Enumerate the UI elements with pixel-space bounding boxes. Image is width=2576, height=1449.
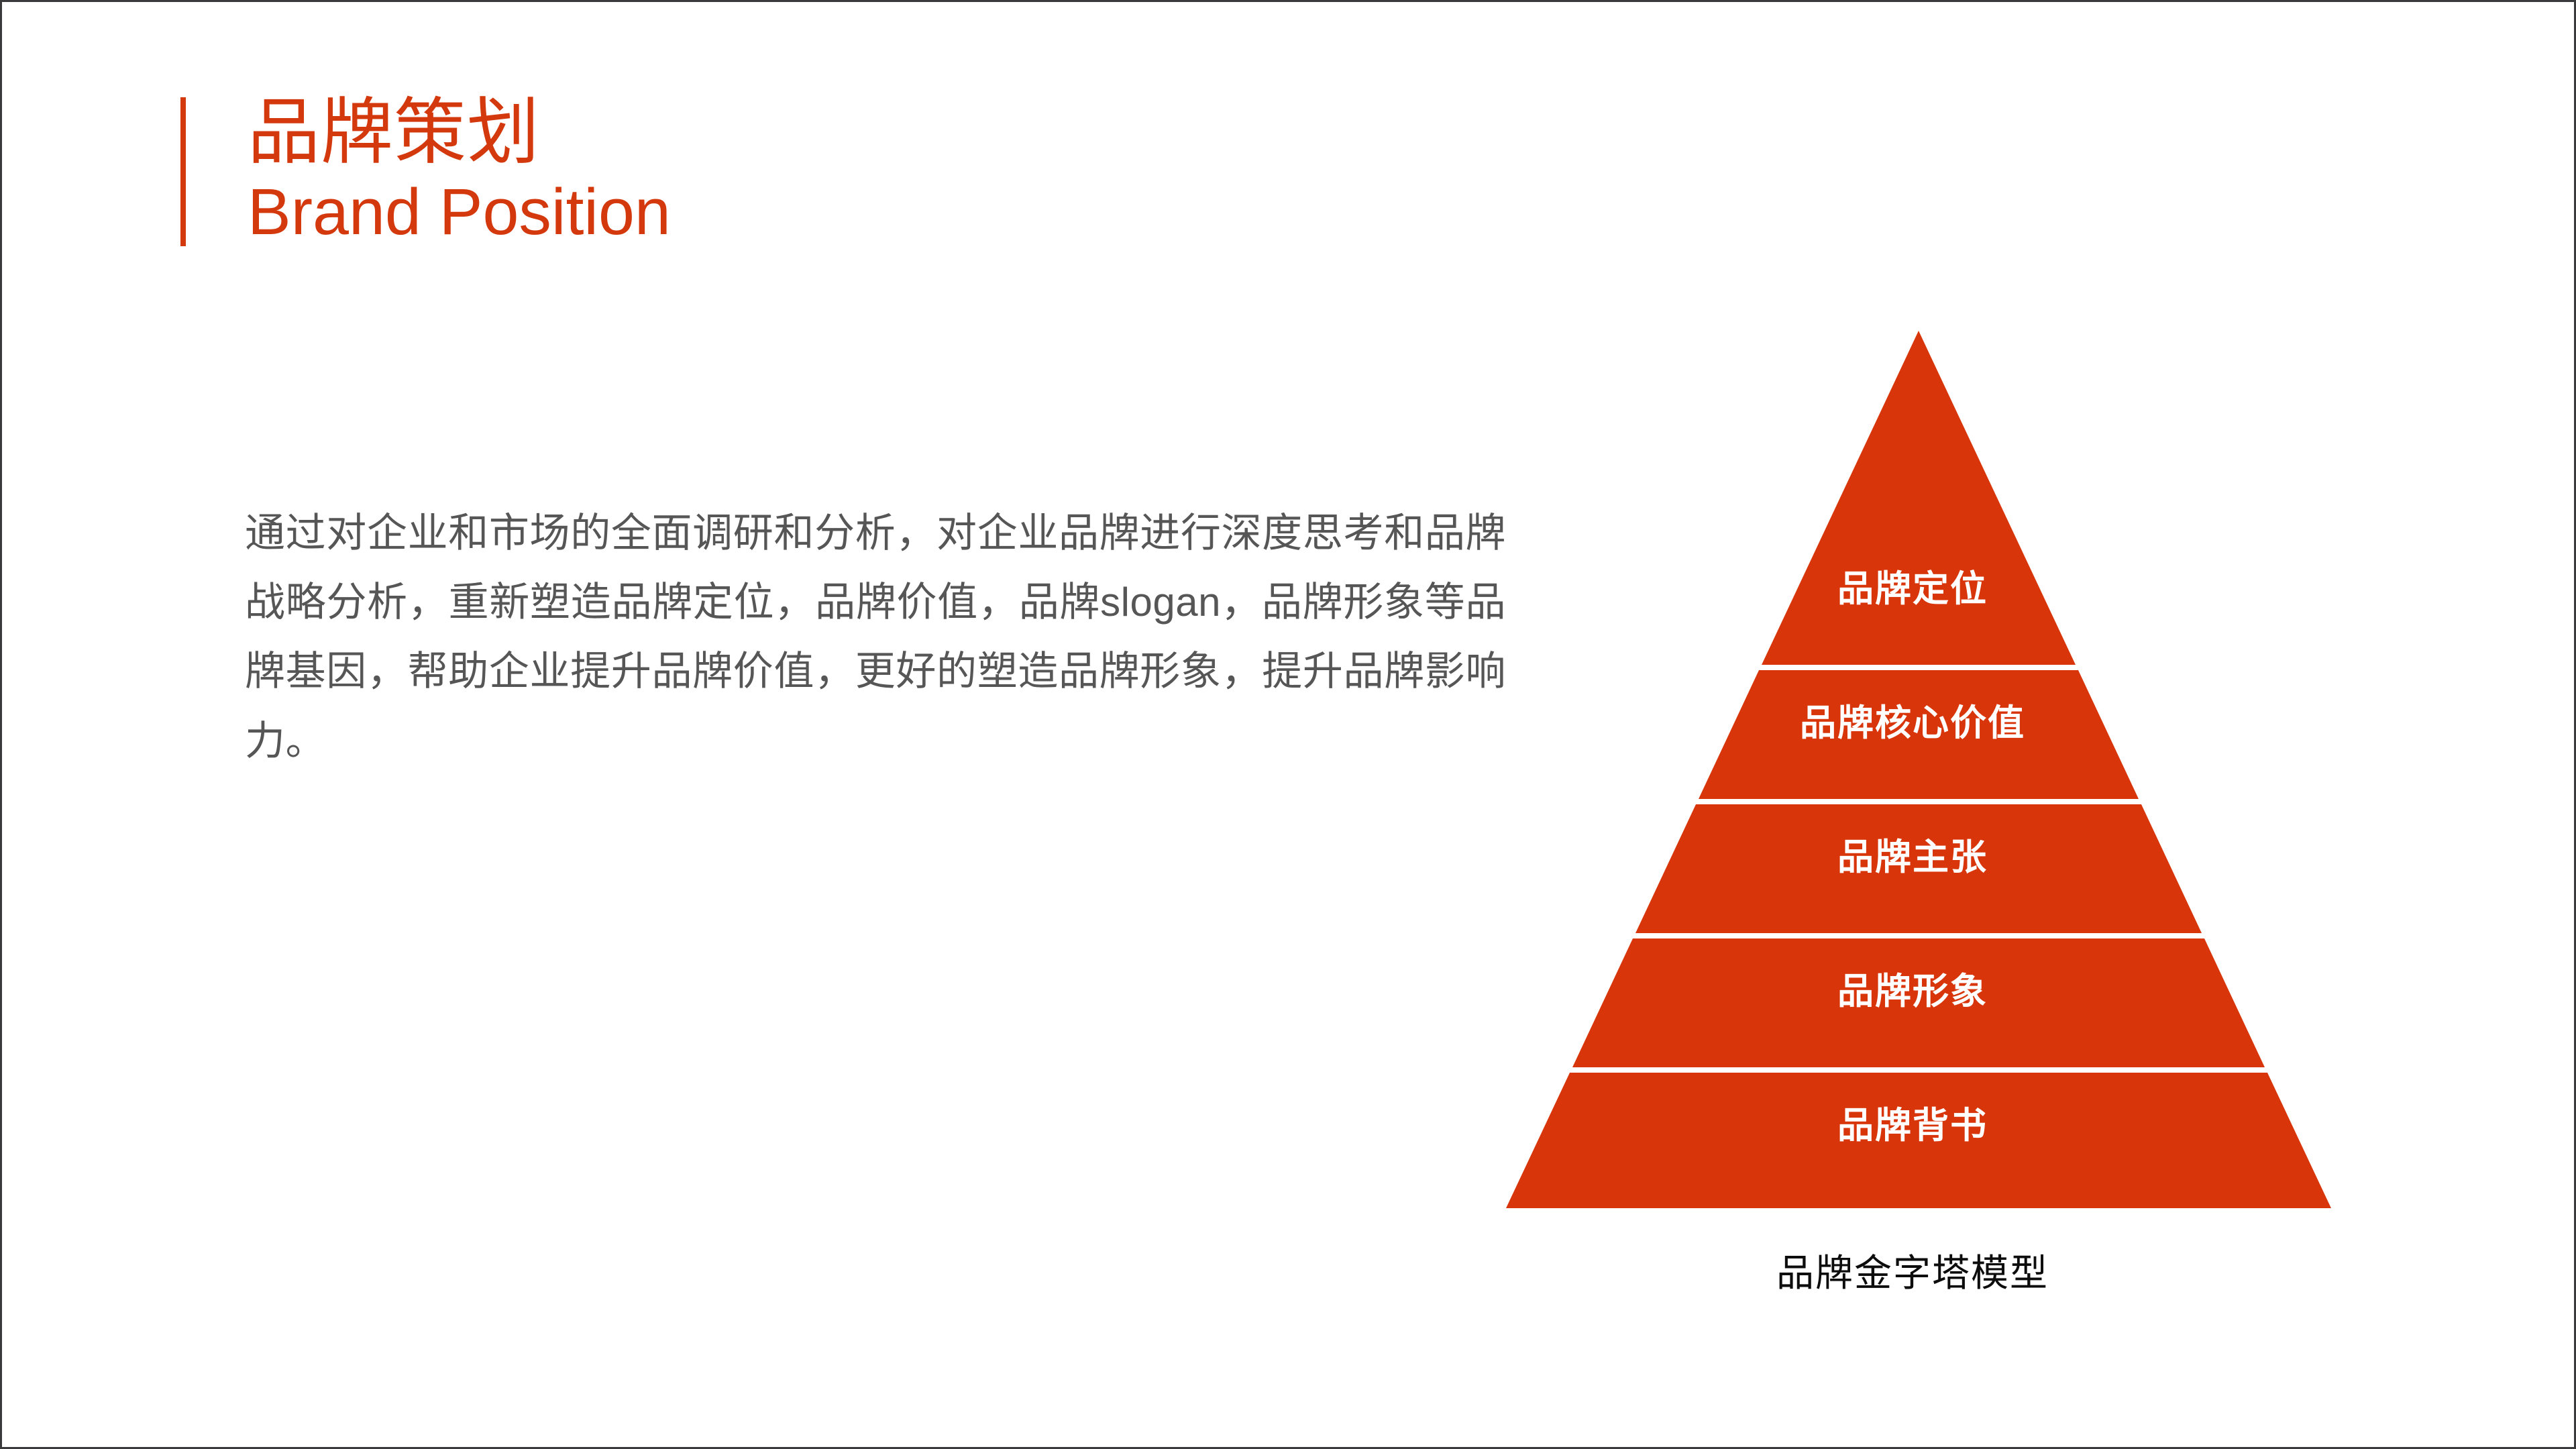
slide-canvas: 品牌策划 Brand Position 通过对企业和市场的全面调研和分析，对企业…: [0, 0, 2576, 1449]
page-title-en: Brand Position: [248, 173, 671, 251]
pyramid-tier-2-shape: [1699, 670, 2139, 799]
body-paragraph: 通过对企业和市场的全面调研和分析，对企业品牌进行深度思考和品牌战略分析，重新塑造…: [245, 498, 1506, 775]
title-text-group: 品牌策划 Brand Position: [248, 91, 671, 252]
title-accent-bar: [180, 97, 186, 246]
pyramid-tier-4-shape: [1572, 938, 2265, 1067]
pyramid-diagram: [1483, 324, 2342, 1223]
page-title-cn: 品牌策划: [248, 91, 671, 173]
slide-title-block: 品牌策划 Brand Position: [180, 91, 671, 252]
pyramid-caption: 品牌金字塔模型: [1483, 1243, 2342, 1297]
pyramid-tier-3-shape: [1635, 804, 2202, 933]
pyramid-tier-5-shape: [1506, 1073, 2331, 1208]
brand-pyramid-figure: 品牌定位 品牌核心价值 品牌主张 品牌形象 品牌背书 品牌金字塔模型: [1483, 324, 2342, 1277]
pyramid-tier-1-shape: [1762, 331, 2076, 665]
